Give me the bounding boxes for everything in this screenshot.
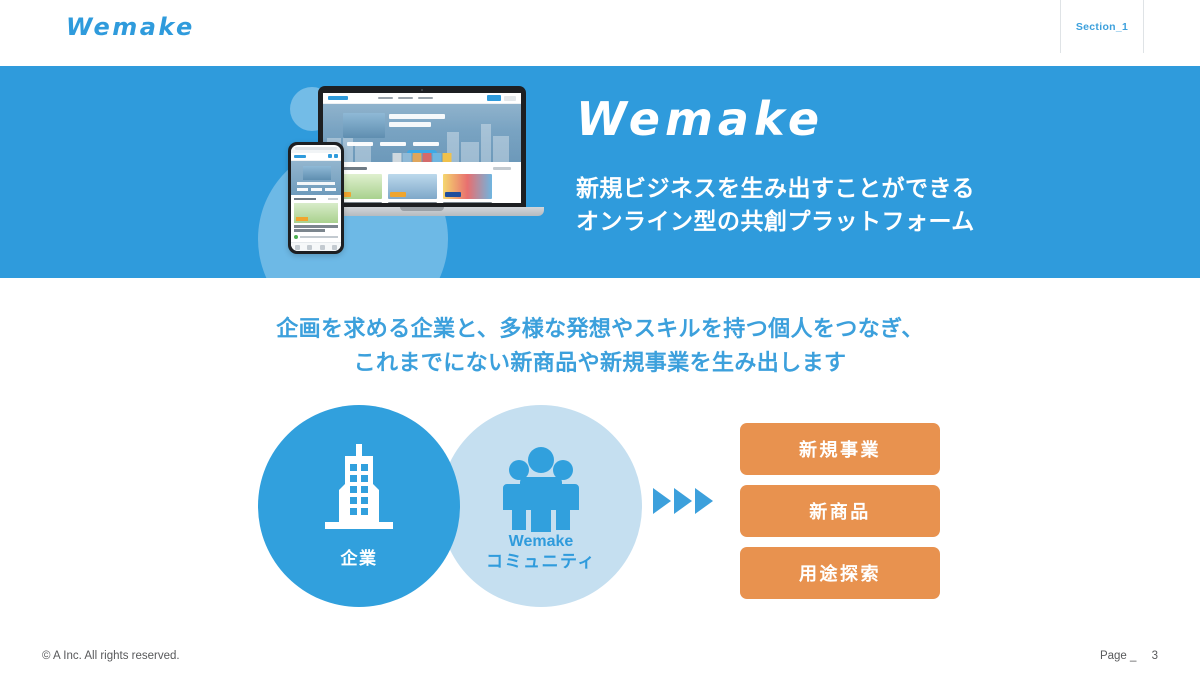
section-indicator: Section_1 <box>1060 0 1144 53</box>
site-content <box>323 162 521 203</box>
site-section-header <box>333 167 511 170</box>
community-circle: Wemake コミュニティ <box>440 405 642 607</box>
key-message: 企画を求める企業と、多様な発想やスキルを持つ個人をつなぎ、 これまでにない新商品… <box>0 312 1200 380</box>
brand-logo: Wemake <box>66 13 195 41</box>
hero-title: Wemake <box>576 92 824 146</box>
site-signup-button <box>487 95 501 101</box>
footer: © A Inc. All rights reserved. Page _ 3 <box>0 640 1200 676</box>
top-bar: Wemake Section_1 <box>0 0 1200 66</box>
laptop-trackpad-notch <box>400 207 444 211</box>
laptop-mockup <box>318 86 526 216</box>
page-number: 3 <box>1152 650 1158 662</box>
community-circle-label: Wemake コミュニティ <box>486 532 596 572</box>
chevron-right-icon <box>653 488 671 514</box>
laptop-camera-icon <box>421 89 423 91</box>
hero-subtitle: 新規ビジネスを生み出すことができる オンライン型の共創プラットフォーム <box>576 172 975 238</box>
site-hero-stats <box>347 142 439 146</box>
triple-chevron-right-icon <box>653 488 713 514</box>
laptop-screen <box>323 93 521 203</box>
output-item-new-business[interactable]: 新規事業 <box>740 423 940 475</box>
site-hero-image <box>323 104 521 162</box>
laptop-lid <box>318 86 526 209</box>
site-menu <box>378 97 433 100</box>
output-item-new-product[interactable]: 新商品 <box>740 485 940 537</box>
copyright-text: © A Inc. All rights reserved. <box>42 650 180 662</box>
site-menu-item <box>418 97 433 100</box>
output-list: 新規事業 新商品 用途探索 <box>740 423 940 599</box>
chevron-right-icon <box>674 488 692 514</box>
hero-subtitle-line1: 新規ビジネスを生み出すことができる <box>576 172 975 205</box>
site-card <box>443 174 492 203</box>
site-hero-thumbnail <box>343 113 385 138</box>
site-card <box>388 174 437 203</box>
slide: Wemake Section_1 <box>0 0 1200 676</box>
key-message-line1: 企画を求める企業と、多様な発想やスキルを持つ個人をつなぎ、 <box>0 312 1200 346</box>
phone-nav-icons <box>328 154 338 158</box>
people-group-icon <box>493 440 589 532</box>
phone-hero-image <box>291 161 341 195</box>
company-circle-label: 企業 <box>341 544 378 569</box>
site-logo-icon <box>328 96 348 100</box>
device-mockup <box>280 80 560 270</box>
hero-banner: Wemake 新規ビジネスを生み出すことができる オンライン型の共創プラットフォ… <box>0 66 1200 278</box>
concept-diagram: Wemake コミュニティ <box>0 400 1200 615</box>
site-hero-subtitle <box>389 122 431 127</box>
site-actions <box>487 95 516 101</box>
site-menu-item <box>398 97 413 100</box>
building-icon <box>311 444 407 536</box>
output-item-use-exploration[interactable]: 用途探索 <box>740 547 940 599</box>
phone-screen <box>291 145 341 251</box>
section-label: Section_1 <box>1076 21 1128 33</box>
site-hero-title <box>389 114 445 119</box>
phone-url-bar <box>295 147 337 150</box>
phone-tab-bar <box>291 242 341 251</box>
site-menu-item <box>378 97 393 100</box>
chevron-right-icon <box>695 488 713 514</box>
hero-subtitle-line2: オンライン型の共創プラットフォーム <box>576 205 975 238</box>
phone-content <box>291 195 341 242</box>
phone-card <box>294 203 338 239</box>
page-indicator: Page _ 3 <box>1100 650 1158 662</box>
community-label-jp: コミュニティ <box>486 552 596 572</box>
community-label-en: Wemake <box>486 532 596 552</box>
phone-site-navbar <box>291 153 341 161</box>
phone-site-logo-icon <box>294 155 306 158</box>
site-card-list <box>333 174 511 203</box>
company-circle: 企業 <box>258 405 460 607</box>
site-hero-thumbnail-strip <box>393 153 452 162</box>
key-message-line2: これまでにない新商品や新規事業を生み出します <box>0 346 1200 380</box>
site-login-button <box>504 96 516 101</box>
page-label: Page _ <box>1100 650 1136 662</box>
phone-mockup <box>288 142 344 254</box>
site-navbar <box>323 93 521 104</box>
